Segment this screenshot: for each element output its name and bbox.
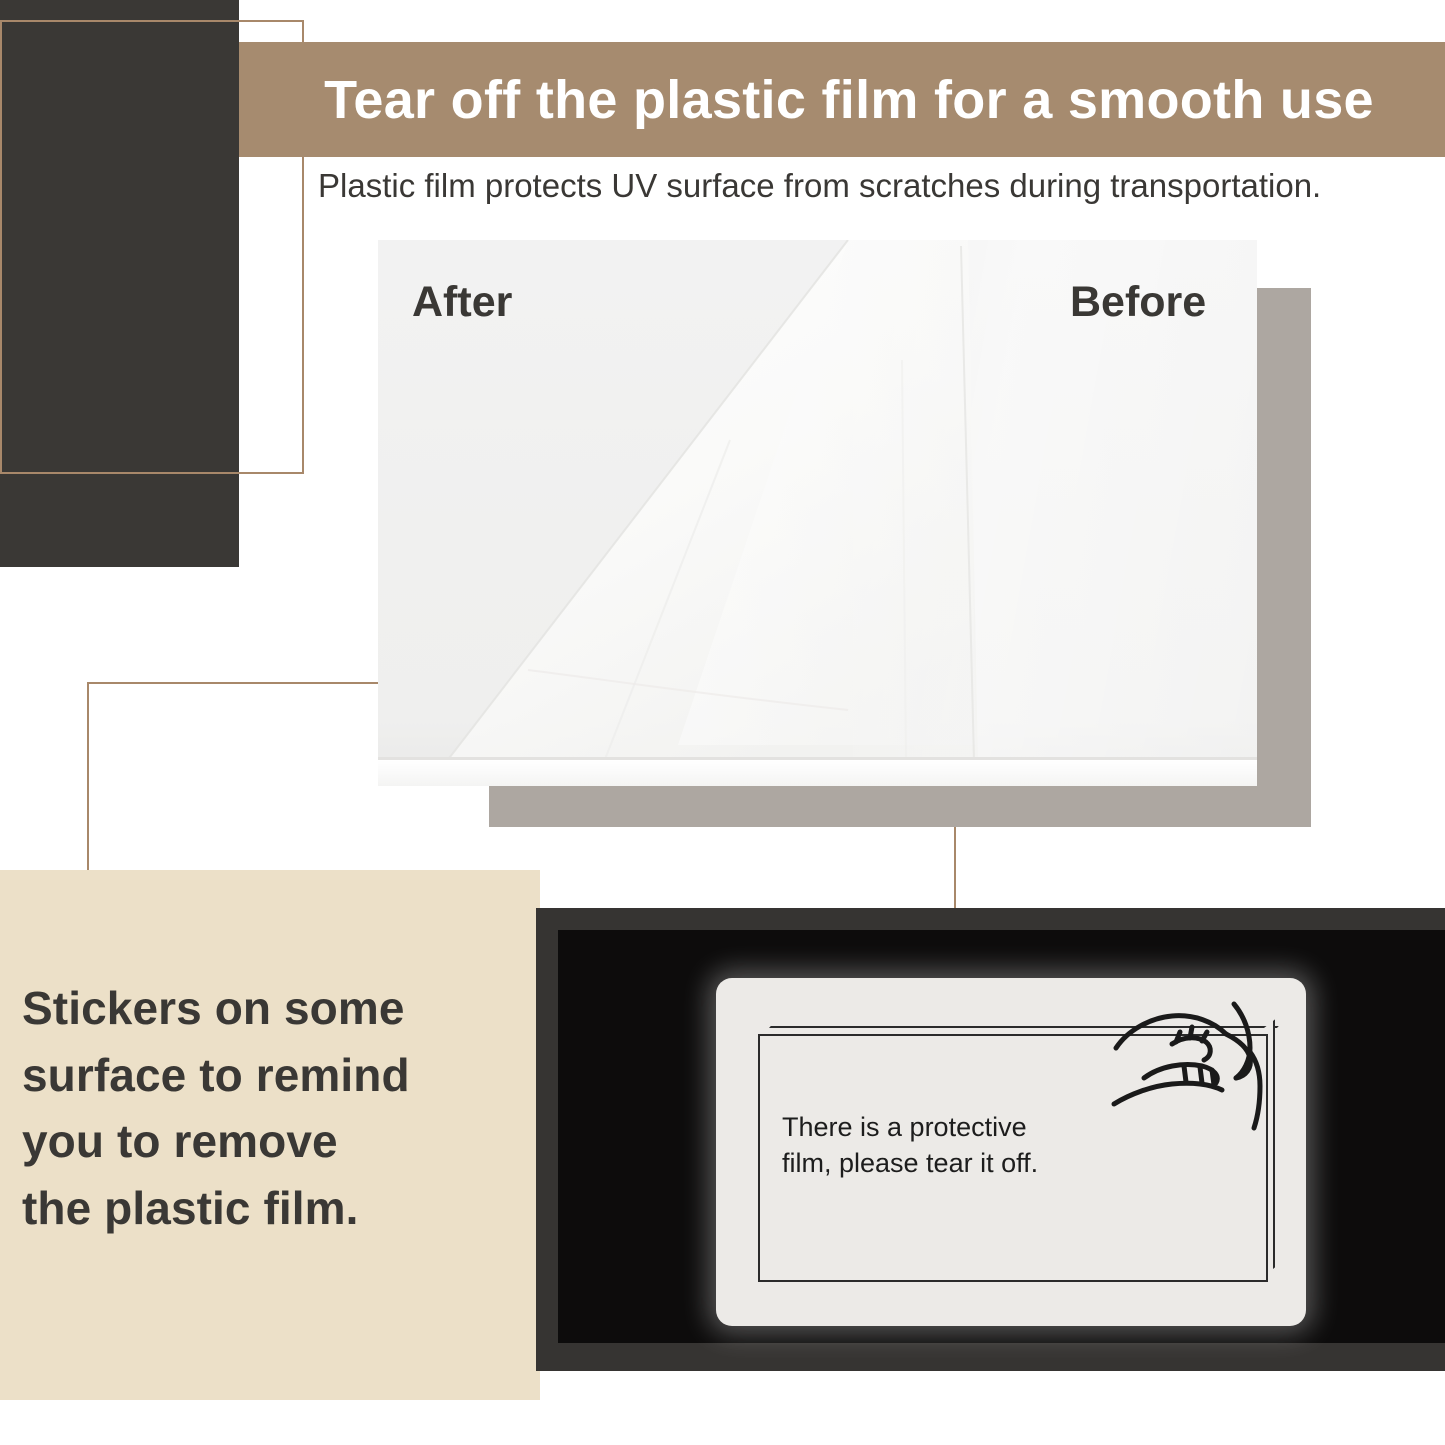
sticker-text: There is a protective film, please tear …	[782, 1110, 1202, 1181]
callout-text: Stickers on some surface to remind you t…	[22, 975, 522, 1242]
infographic-canvas: Tear off the plastic film for a smooth u…	[0, 0, 1445, 1445]
callout-line-3: you to remove	[22, 1108, 522, 1175]
sticker-photo-backdrop: There is a protective film, please tear …	[558, 930, 1445, 1343]
sticker-text-line-2: film, please tear it off.	[782, 1146, 1202, 1182]
photo-bottom-edge	[378, 760, 1257, 786]
label-after: After	[412, 278, 512, 327]
callout-line-2: surface to remind	[22, 1042, 522, 1109]
sticker-photo: There is a protective film, please tear …	[536, 908, 1445, 1371]
header-band: Tear off the plastic film for a smooth u…	[239, 42, 1445, 157]
label-before: Before	[1070, 278, 1206, 327]
page-subtitle: Plastic film protects UV surface from sc…	[318, 166, 1433, 206]
sticker-text-line-1: There is a protective	[782, 1110, 1202, 1146]
warning-sticker: There is a protective film, please tear …	[716, 978, 1306, 1326]
callout-line-1: Stickers on some	[22, 975, 522, 1042]
callout-line-4: the plastic film.	[22, 1175, 522, 1242]
page-title: Tear off the plastic film for a smooth u…	[300, 73, 1384, 127]
connector-line-left	[87, 682, 379, 872]
